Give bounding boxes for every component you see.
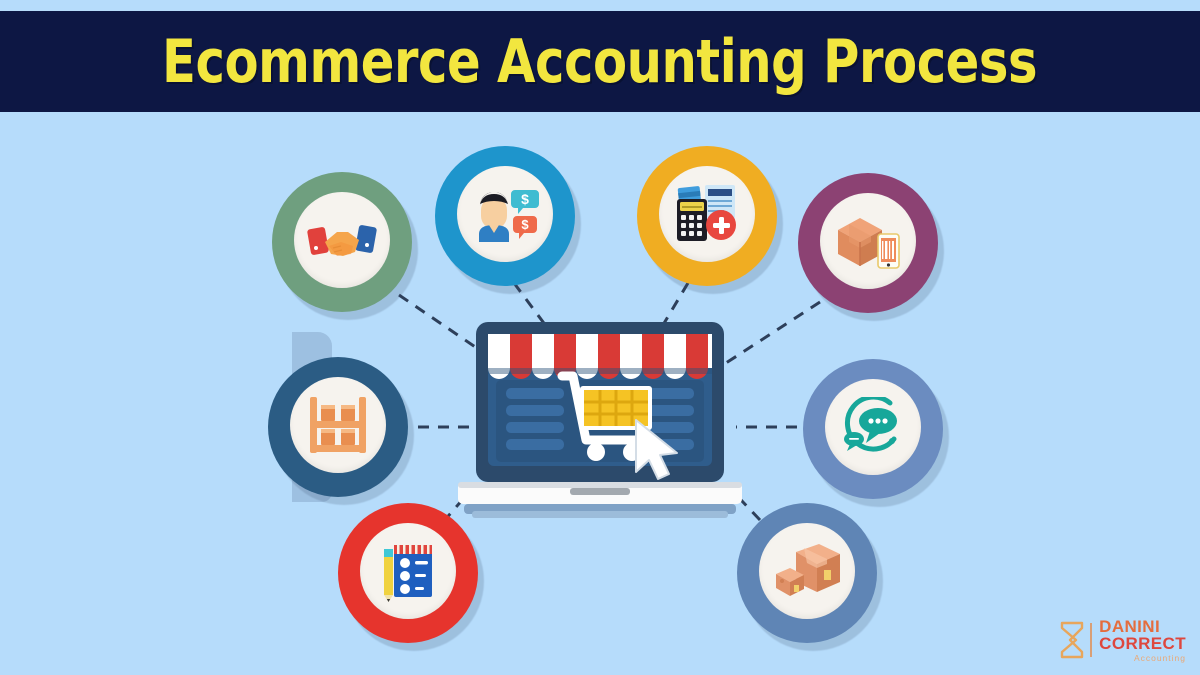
warehouse-shelf-icon bbox=[306, 395, 370, 455]
node-customer[interactable]: $ $ bbox=[435, 146, 575, 286]
brand-logo: DANINI CORRECT Accounting bbox=[1059, 617, 1186, 663]
node-shipping[interactable] bbox=[798, 173, 938, 313]
node-disc: $ $ bbox=[457, 166, 553, 262]
cardboard-boxes-icon bbox=[772, 542, 842, 600]
sigma-icon bbox=[1059, 621, 1085, 659]
node-disc bbox=[360, 523, 456, 619]
node-invoice[interactable] bbox=[637, 146, 777, 286]
parcel-mobile-icon bbox=[832, 212, 904, 270]
handshake-icon bbox=[307, 212, 377, 268]
slide-canvas: Ecommerce Accounting Process bbox=[0, 0, 1200, 675]
calculator-invoice-icon bbox=[671, 183, 743, 245]
plus-badge-icon bbox=[706, 210, 736, 240]
node-support[interactable] bbox=[803, 359, 943, 499]
node-inventory[interactable] bbox=[268, 357, 408, 497]
node-disc bbox=[294, 192, 390, 288]
logo-wordmark: DANINI CORRECT Accounting bbox=[1099, 618, 1186, 663]
chat-bubbles-icon bbox=[840, 397, 906, 457]
node-vendor[interactable] bbox=[272, 172, 412, 312]
ecommerce-laptop bbox=[450, 322, 750, 522]
node-packaging[interactable] bbox=[737, 503, 877, 643]
clipboard-checklist-icon bbox=[378, 539, 438, 603]
logo-divider bbox=[1090, 623, 1092, 657]
laptop-trackpad bbox=[570, 488, 630, 495]
shop-awning bbox=[488, 334, 712, 379]
node-records[interactable] bbox=[338, 503, 478, 643]
logo-line-2: CORRECT bbox=[1099, 635, 1186, 652]
dollar-bubble-teal: $ bbox=[511, 190, 539, 214]
node-disc bbox=[290, 377, 386, 473]
node-disc bbox=[825, 379, 921, 475]
dollar-bubble-orange: $ bbox=[513, 216, 537, 239]
customer-dollar-icon: $ $ bbox=[469, 184, 541, 244]
svg-text:$: $ bbox=[521, 191, 529, 207]
node-disc bbox=[820, 193, 916, 289]
logo-tagline: Accounting bbox=[1099, 654, 1186, 663]
barcode-phone-icon bbox=[878, 234, 899, 268]
logo-line-1: DANINI bbox=[1099, 618, 1186, 635]
node-disc bbox=[659, 166, 755, 262]
node-disc bbox=[759, 523, 855, 619]
svg-text:$: $ bbox=[521, 217, 529, 232]
